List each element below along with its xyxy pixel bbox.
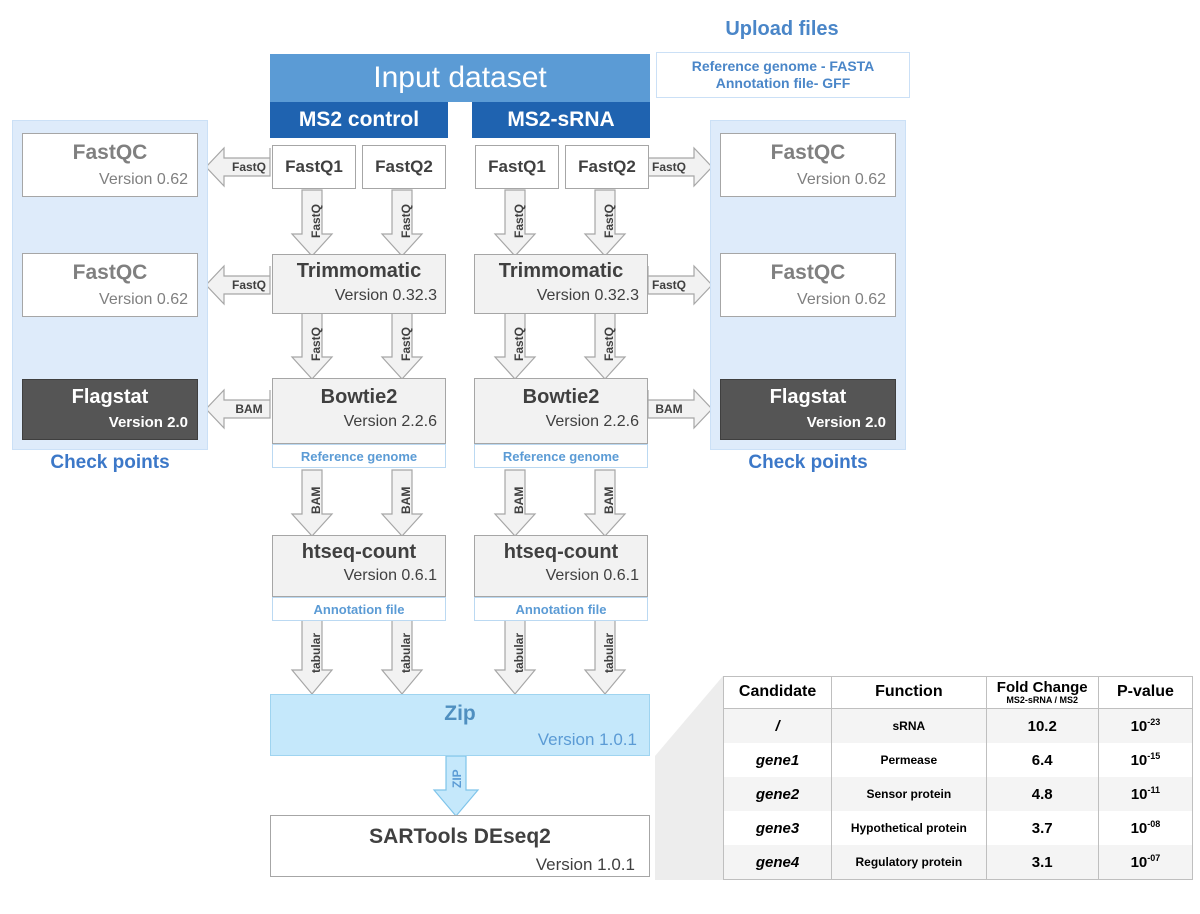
arrow-label-bam-v-l2: BAM: [397, 474, 415, 526]
zoom-wedge: [655, 676, 723, 880]
tool-right-trimmomatic: Trimmomatic Version 0.32.3: [474, 254, 648, 314]
cell-p-value: 10-11: [1098, 777, 1192, 811]
tool-zip: Zip Version 1.0.1: [270, 694, 650, 756]
arrow-label-bam-v-r2: BAM: [600, 474, 618, 526]
tool-version: Version 0.62: [730, 291, 886, 309]
arrow-label-fastq-v-l2a: FastQ: [307, 315, 325, 373]
cell-fold-change: 6.4: [986, 743, 1098, 777]
cell-function: sRNA: [832, 708, 986, 743]
cell-p-value: 10-15: [1098, 743, 1192, 777]
table-row: gene3Hypothetical protein3.710-08: [724, 811, 1192, 845]
checkpoint-left-flagstat: Flagstat Version 2.0: [22, 379, 198, 440]
arrow-label-fastq-v-l1b: FastQ: [397, 192, 415, 250]
tool-name: SARTools DEseq2: [285, 825, 635, 849]
tool-name: FastQC: [32, 141, 188, 165]
tool-name: FastQC: [730, 141, 886, 165]
checkpoints-label-right: Check points: [710, 452, 906, 474]
arrow-label-bam-left: BAM: [226, 399, 272, 419]
checkpoint-right-fastqc-2: FastQC Version 0.62: [720, 253, 896, 317]
tool-version: Version 0.32.3: [281, 288, 437, 304]
cell-function: Permease: [832, 743, 986, 777]
condition-header-ms2-srna: MS2-sRNA: [472, 102, 650, 138]
arrow-label-fastq-left-mid: FastQ: [226, 275, 272, 295]
arrow-label-fastq-right-top: FastQ: [646, 157, 692, 177]
tool-name: Trimmomatic: [281, 261, 437, 281]
cell-p-value: 10-07: [1098, 845, 1192, 879]
cell-p-value: 10-23: [1098, 708, 1192, 743]
tool-name: Flagstat: [32, 386, 188, 409]
tool-version: Version 2.2.6: [281, 414, 437, 430]
results-table: Candidate Function Fold Change MS2-sRNA …: [723, 676, 1193, 880]
tool-left-htseq-count: htseq-count Version 0.6.1: [272, 535, 446, 597]
cell-fold-change: 10.2: [986, 708, 1098, 743]
table-header-row: Candidate Function Fold Change MS2-sRNA …: [724, 677, 1192, 708]
checkpoint-right-flagstat: Flagstat Version 2.0: [720, 379, 896, 440]
sample-left-fastq2: FastQ2: [362, 145, 446, 189]
tool-name: Trimmomatic: [483, 261, 639, 281]
note-right-reference-genome: Reference genome: [474, 444, 648, 468]
tool-name: FastQC: [730, 261, 886, 285]
arrow-label-tabular-l1: tabular: [307, 622, 325, 684]
arrow-label-fastq-v-r1b: FastQ: [600, 192, 618, 250]
tool-version: Version 2.0: [730, 414, 886, 431]
col-header-p-value: P-value: [1098, 677, 1192, 708]
tool-version: Version 0.32.3: [483, 288, 639, 304]
arrow-label-fastq-v-l1a: FastQ: [307, 192, 325, 250]
tool-name: Bowtie2: [281, 387, 437, 407]
checkpoint-left-fastqc-2: FastQC Version 0.62: [22, 253, 198, 317]
cell-p-value: 10-08: [1098, 811, 1192, 845]
cell-candidate: gene1: [724, 743, 832, 777]
arrow-label-tabular-r2: tabular: [600, 622, 618, 684]
checkpoints-label-left: Check points: [12, 452, 208, 474]
tool-version: Version 1.0.1: [285, 855, 635, 875]
tool-name: Bowtie2: [483, 387, 639, 407]
tool-left-trimmomatic: Trimmomatic Version 0.32.3: [272, 254, 446, 314]
ms2-control-label: MS2 control: [299, 108, 419, 132]
cell-function: Sensor protein: [832, 777, 986, 811]
tool-right-bowtie2: Bowtie2 Version 2.2.6: [474, 378, 648, 444]
tool-right-htseq-count: htseq-count Version 0.6.1: [474, 535, 648, 597]
arrow-label-tabular-r1: tabular: [510, 622, 528, 684]
tool-version: Version 0.62: [32, 171, 188, 189]
note-right-annotation-file: Annotation file: [474, 597, 648, 621]
tool-name: htseq-count: [483, 542, 639, 562]
arrow-label-fastq-v-r2b: FastQ: [600, 315, 618, 373]
tool-version: Version 0.6.1: [483, 568, 639, 584]
checkpoint-right-fastqc-1: FastQC Version 0.62: [720, 133, 896, 197]
tool-version: Version 1.0.1: [283, 730, 637, 750]
tool-version: Version 0.6.1: [281, 568, 437, 584]
cell-function: Hypothetical protein: [832, 811, 986, 845]
input-dataset-header: Input dataset: [270, 54, 650, 102]
sample-right-fastq2: FastQ2: [565, 145, 649, 189]
sample-right-fastq1: FastQ1: [475, 145, 559, 189]
upload-line-2: Annotation file- GFF: [716, 75, 851, 93]
table-row: gene4Regulatory protein3.110-07: [724, 845, 1192, 879]
cell-fold-change: 3.7: [986, 811, 1098, 845]
sample-left-fastq1: FastQ1: [272, 145, 356, 189]
note-left-reference-genome: Reference genome: [272, 444, 446, 468]
input-dataset-title: Input dataset: [373, 61, 546, 95]
arrow-label-bam-v-l1: BAM: [307, 474, 325, 526]
col-header-function: Function: [832, 677, 986, 708]
cell-candidate: gene4: [724, 845, 832, 879]
tool-version: Version 2.0: [32, 414, 188, 431]
tool-name: htseq-count: [281, 542, 437, 562]
cell-candidate: gene3: [724, 811, 832, 845]
table-row: gene2Sensor protein4.810-11: [724, 777, 1192, 811]
tool-left-bowtie2: Bowtie2 Version 2.2.6: [272, 378, 446, 444]
table-row: gene1Permease6.410-15: [724, 743, 1192, 777]
upload-files-note: Reference genome - FASTA Annotation file…: [656, 52, 910, 98]
tool-name: Flagstat: [730, 386, 886, 409]
condition-header-ms2-control: MS2 control: [270, 102, 448, 138]
cell-candidate: /: [724, 708, 832, 743]
table-row: /sRNA10.210-23: [724, 708, 1192, 743]
tool-name: FastQC: [32, 261, 188, 285]
col-header-candidate: Candidate: [724, 677, 832, 708]
tool-version: Version 2.2.6: [483, 414, 639, 430]
upload-files-title: Upload files: [664, 18, 900, 41]
workflow-diagram: Upload files Reference genome - FASTA An…: [0, 0, 1200, 914]
arrow-label-fastq-right-mid: FastQ: [646, 275, 692, 295]
arrow-label-zip: ZIP: [448, 758, 466, 800]
arrow-label-fastq-left-top: FastQ: [226, 157, 272, 177]
arrow-label-fastq-v-r2a: FastQ: [510, 315, 528, 373]
col-subheader-fold-change: MS2-sRNA / MS2: [991, 696, 1094, 706]
cell-fold-change: 4.8: [986, 777, 1098, 811]
checkpoint-left-fastqc-1: FastQC Version 0.62: [22, 133, 198, 197]
cell-fold-change: 3.1: [986, 845, 1098, 879]
arrow-label-bam-v-r1: BAM: [510, 474, 528, 526]
note-left-annotation-file: Annotation file: [272, 597, 446, 621]
arrow-label-tabular-l2: tabular: [397, 622, 415, 684]
col-header-fold-change: Fold Change MS2-sRNA / MS2: [986, 677, 1098, 708]
upload-line-1: Reference genome - FASTA: [692, 58, 875, 76]
tool-sartools-deseq2: SARTools DEseq2 Version 1.0.1: [270, 815, 650, 877]
tool-version: Version 0.62: [32, 291, 188, 309]
ms2-srna-label: MS2-sRNA: [507, 108, 614, 132]
arrow-label-fastq-v-l2b: FastQ: [397, 315, 415, 373]
tool-name: Zip: [283, 702, 637, 726]
arrow-label-bam-right: BAM: [646, 399, 692, 419]
cell-candidate: gene2: [724, 777, 832, 811]
arrow-label-fastq-v-r1a: FastQ: [510, 192, 528, 250]
cell-function: Regulatory protein: [832, 845, 986, 879]
tool-version: Version 0.62: [730, 171, 886, 189]
